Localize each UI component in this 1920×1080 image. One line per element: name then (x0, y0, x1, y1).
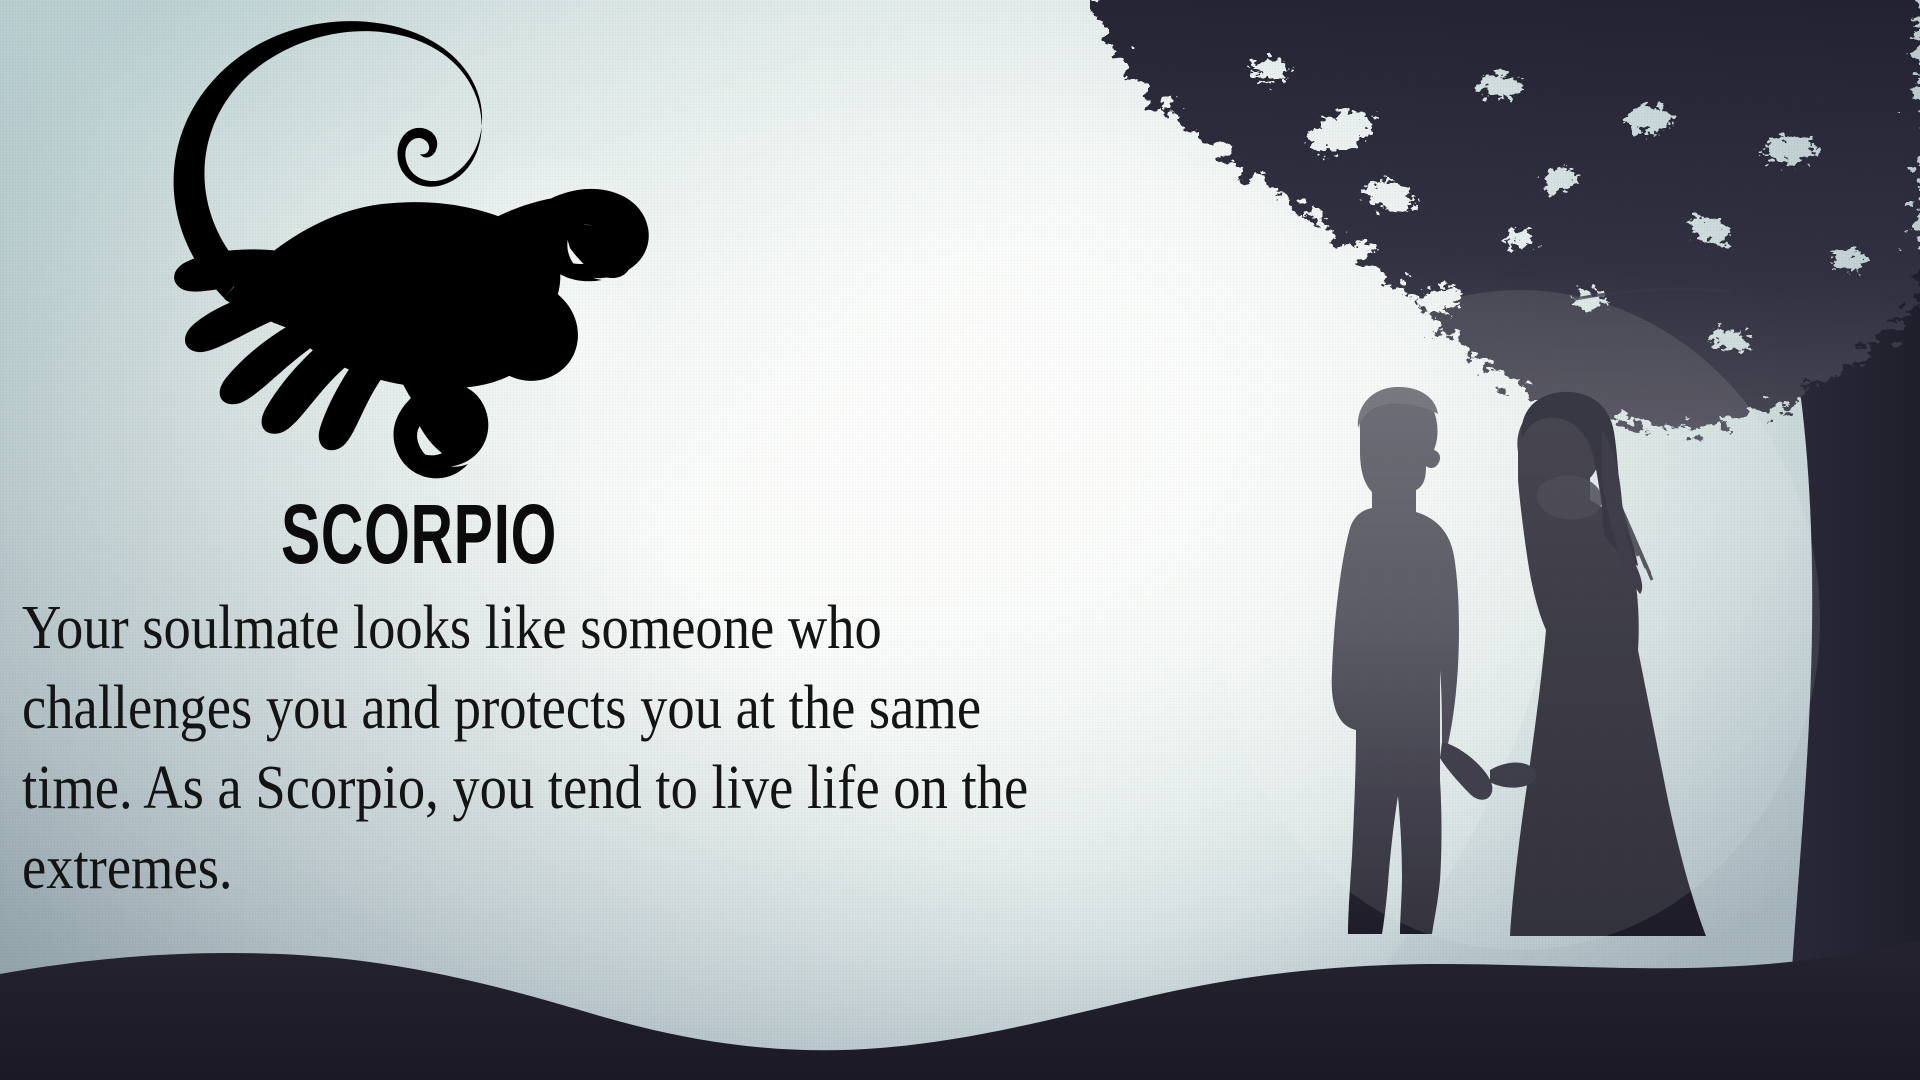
romantic-scene-photo (1090, 0, 1920, 1080)
ground-hill-silhouette (0, 930, 1920, 1080)
zodiac-sign-title: SCORPIO (281, 492, 557, 576)
scorpion-icon (150, 14, 650, 506)
poster-canvas: SCORPIO Your soulmate looks like someone… (0, 0, 1920, 1080)
horoscope-body-text: Your soulmate looks like someone who cha… (22, 588, 1043, 908)
scene-glow (1220, 290, 1820, 950)
